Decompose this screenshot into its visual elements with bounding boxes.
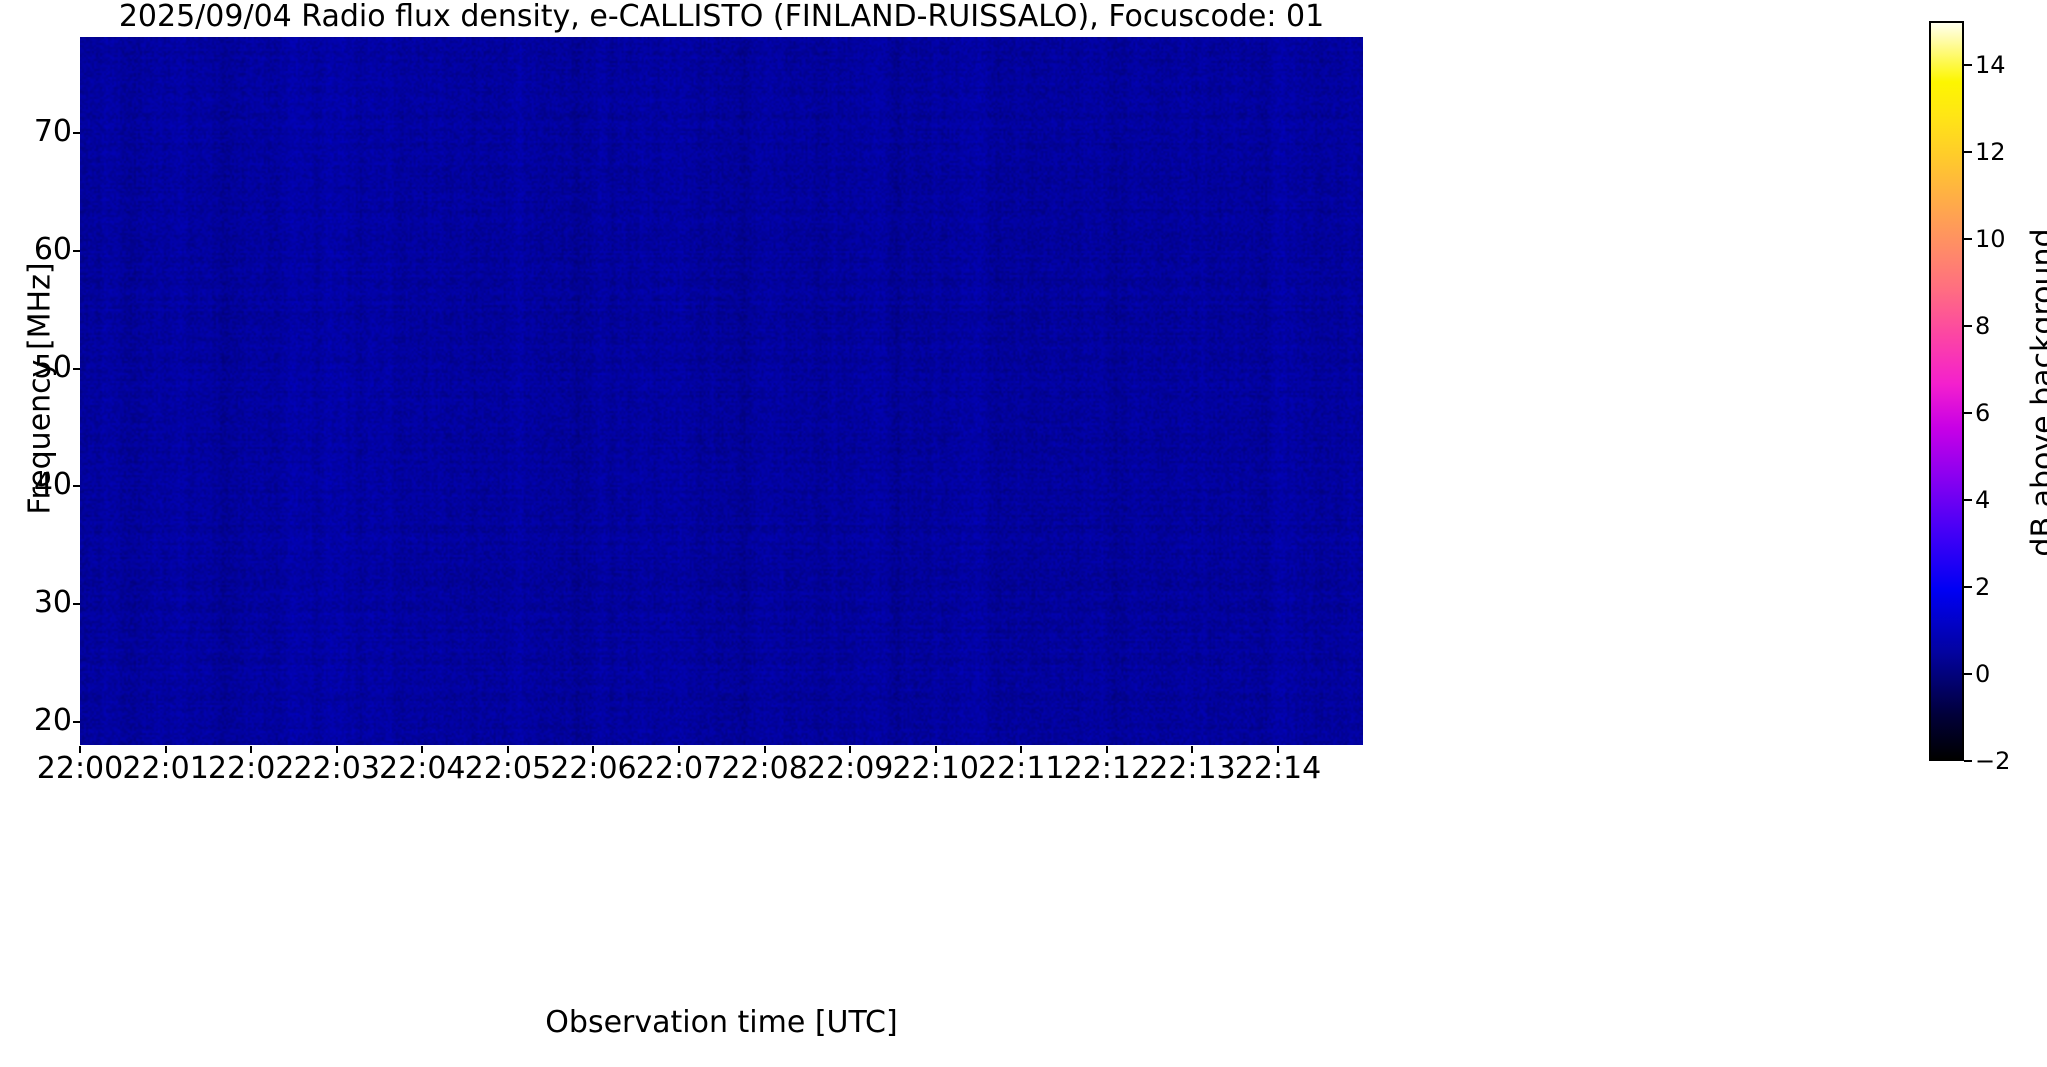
colorbar-tick-mark xyxy=(1964,238,1972,240)
colorbar-tick-mark xyxy=(1964,499,1972,501)
x-tick-label: 22:10 xyxy=(892,753,978,785)
colorbar-tick-label: 4 xyxy=(1975,488,1990,512)
colorbar-label: dB above background xyxy=(2026,23,2047,763)
y-tick-label: 50 xyxy=(34,353,72,383)
x-tick-label: 22:06 xyxy=(550,753,636,785)
y-tick-mark xyxy=(73,132,80,134)
y-tick-label: 40 xyxy=(34,470,72,500)
x-tick-label: 22:12 xyxy=(1064,753,1150,785)
x-tick-label: 22:14 xyxy=(1235,753,1321,785)
x-tick-label: 22:08 xyxy=(721,753,807,785)
colorbar-tick-label: −2 xyxy=(1975,749,2010,773)
x-tick-label: 22:11 xyxy=(978,753,1064,785)
colorbar-tick-label: 6 xyxy=(1975,401,1990,425)
x-tick-label: 22:00 xyxy=(37,753,123,785)
colorbar-label-holder: dB above background xyxy=(2028,0,2047,780)
colorbar-tick-label: 0 xyxy=(1975,662,1990,686)
x-tick-label: 22:03 xyxy=(293,753,379,785)
y-tick-mark xyxy=(73,250,80,252)
colorbar-tick-mark xyxy=(1964,673,1972,675)
y-tick-mark xyxy=(73,368,80,370)
colorbar-gradient xyxy=(1929,21,1964,761)
x-tick-label: 22:02 xyxy=(208,753,294,785)
spectrogram-plot-area xyxy=(80,37,1363,745)
x-tick-label: 22:05 xyxy=(465,753,551,785)
x-tick-label: 22:13 xyxy=(1149,753,1235,785)
y-tick-label: 20 xyxy=(34,706,72,736)
x-axis-label: Observation time [UTC] xyxy=(80,1005,1363,1040)
colorbar-tick-label: 14 xyxy=(1975,53,2006,77)
page-title: 2025/09/04 Radio flux density, e-CALLIST… xyxy=(80,0,1363,36)
x-tick-label: 22:01 xyxy=(122,753,208,785)
spectrogram-figure: 2025/09/04 Radio flux density, e-CALLIST… xyxy=(0,0,2047,1067)
y-tick-label: 30 xyxy=(34,588,72,618)
colorbar-tick-label: 2 xyxy=(1975,575,1990,599)
colorbar-tick-mark xyxy=(1964,760,1972,762)
y-tick-mark xyxy=(73,485,80,487)
y-tick-label: 70 xyxy=(34,117,72,147)
y-tick-label: 60 xyxy=(34,235,72,265)
x-tick-label: 22:09 xyxy=(807,753,893,785)
spectrogram-heatmap-image xyxy=(80,37,1363,745)
colorbar-tick-label: 8 xyxy=(1975,314,1990,338)
y-tick-mark xyxy=(73,603,80,605)
x-tick-label: 22:07 xyxy=(636,753,722,785)
colorbar-tick-mark xyxy=(1964,586,1972,588)
colorbar-tick-mark xyxy=(1964,325,1972,327)
colorbar: 14121086420−2 xyxy=(1929,21,1964,761)
colorbar-tick-mark xyxy=(1964,64,1972,66)
colorbar-tick-mark xyxy=(1964,151,1972,153)
x-tick-label: 22:04 xyxy=(379,753,465,785)
colorbar-tick-label: 12 xyxy=(1975,140,2006,164)
y-tick-mark xyxy=(73,721,80,723)
colorbar-tick-mark xyxy=(1964,412,1972,414)
colorbar-tick-label: 10 xyxy=(1975,227,2006,251)
